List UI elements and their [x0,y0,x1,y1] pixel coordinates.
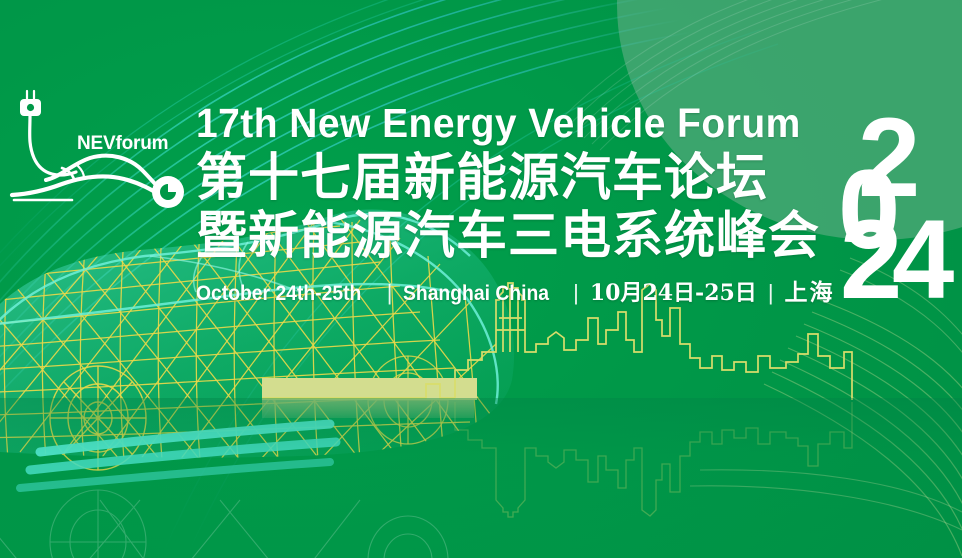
year-digit-4: 4 [892,204,954,316]
event-banner: NEVforum 2 0 2 4 17th New Energy Vehicle… [0,0,962,558]
subtitle-separator-2: | [562,280,590,306]
title-block: 17th New Energy Vehicle Forum 第十七届新能源汽车论… [196,100,836,307]
water-reflection-band [0,398,962,558]
title-chinese-line1: 第十七届新能源汽车论坛 [196,149,836,206]
subtitle-location-en: Shanghai China [403,282,549,306]
subtitle-row: October 24th-25th | Shanghai China | 10月… [196,273,836,307]
nevforum-logo-text: NEVforum [77,133,168,155]
year-2024-graphic: 2 0 2 4 [840,102,960,312]
subtitle-location-cn: 上海 [785,273,835,307]
subtitle-separator-1: | [376,280,404,306]
accent-bar [262,378,477,400]
logo-text-forum: forum [115,133,168,154]
subtitle-date-cn: 10月24日-25日 [590,275,757,307]
nevforum-logo[interactable]: NEVforum [6,78,196,213]
logo-text-nev: NEV [77,133,115,154]
title-english: 17th New Energy Vehicle Forum [196,100,804,146]
subtitle-date-en: October 24th-25th [196,282,361,306]
title-chinese-line2: 暨新能源汽车三电系统峰会 [196,207,836,264]
subtitle-separator-3: | [757,280,785,306]
